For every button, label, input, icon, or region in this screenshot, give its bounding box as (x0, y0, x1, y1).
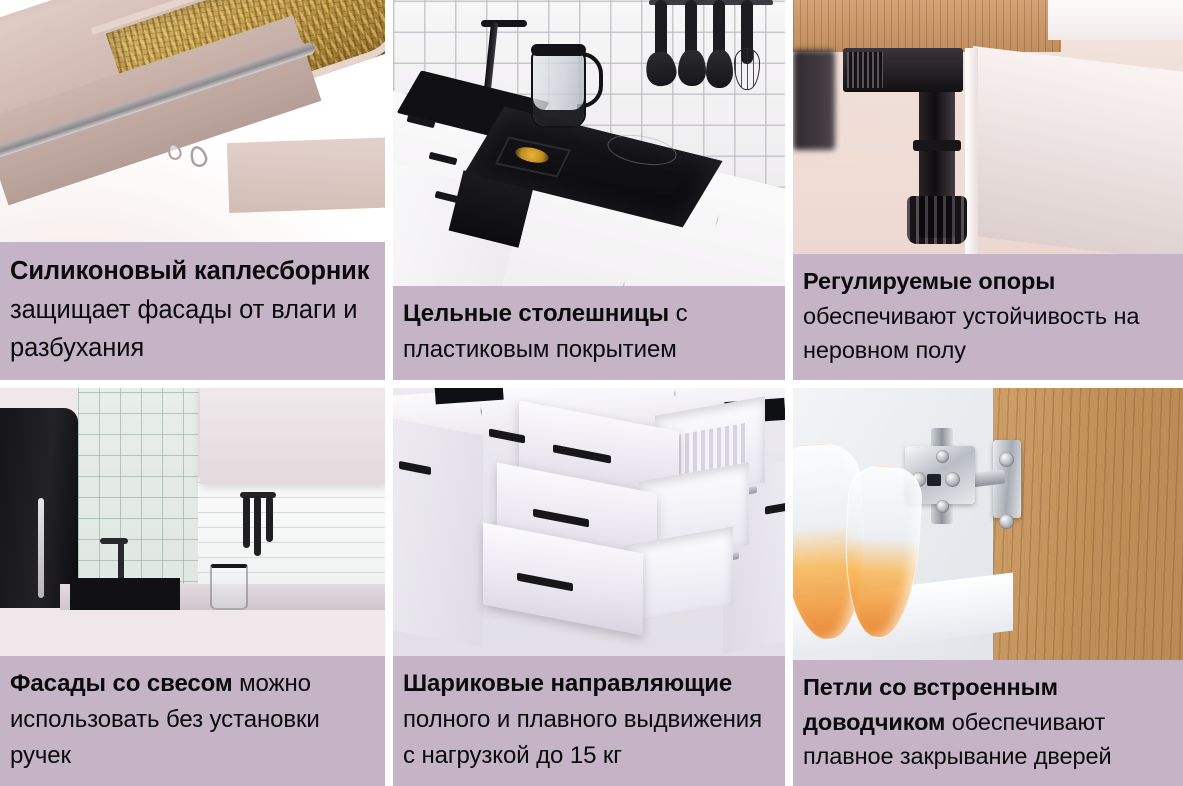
caption-ball-bearing-slides: Шариковые направляющие полного и плавног… (393, 656, 785, 786)
caption-rest-ball-bearing-slides: полного и плавного выдвижения с нагрузко… (403, 706, 762, 769)
caption-adjustable-legs: Регулируемые опоры обеспечивают устойчив… (793, 254, 1183, 380)
feature-card-drip-catcher[interactable]: Силиконовый каплесборник защищает фасады… (0, 0, 385, 380)
feature-card-ball-bearing-slides[interactable]: Шариковые направляющие полного и плавног… (393, 388, 785, 786)
caption-rest-drip-catcher: защищает фасады от влаги и разбухания (10, 296, 357, 363)
caption-soft-close-hinges: Петли со встроенным доводчиком обеспечив… (793, 660, 1183, 786)
caption-overhang-fronts: Фасады со свесом можно использовать без … (0, 656, 385, 786)
caption-drip-catcher: Силиконовый каплесборник защищает фасады… (0, 242, 385, 380)
feature-card-overhang-fronts[interactable]: Фасады со свесом можно использовать без … (0, 388, 385, 786)
caption-bold-drip-catcher: Силиконовый каплесборник (10, 257, 369, 285)
caption-bold-ball-bearing-slides: Шариковые направляющие (403, 670, 732, 697)
feature-card-adjustable-legs[interactable]: Регулируемые опоры обеспечивают устойчив… (793, 0, 1183, 380)
caption-solid-countertops: Цельные столешницы с пластиковым покрыти… (393, 286, 785, 380)
caption-bold-solid-countertops: Цельные столешницы (403, 300, 669, 327)
feature-card-solid-countertops[interactable]: Цельные столешницы с пластиковым покрыти… (393, 0, 785, 380)
feature-grid: Силиконовый каплесборник защищает фасады… (0, 0, 1183, 786)
caption-bold-adjustable-legs: Регулируемые опоры (803, 268, 1055, 294)
caption-rest-adjustable-legs: обеспечивают устойчивость на неровном по… (803, 303, 1139, 364)
feature-card-soft-close-hinges[interactable]: Петли со встроенным доводчиком обеспечив… (793, 388, 1183, 786)
caption-bold-overhang-fronts: Фасады со свесом (10, 670, 233, 697)
